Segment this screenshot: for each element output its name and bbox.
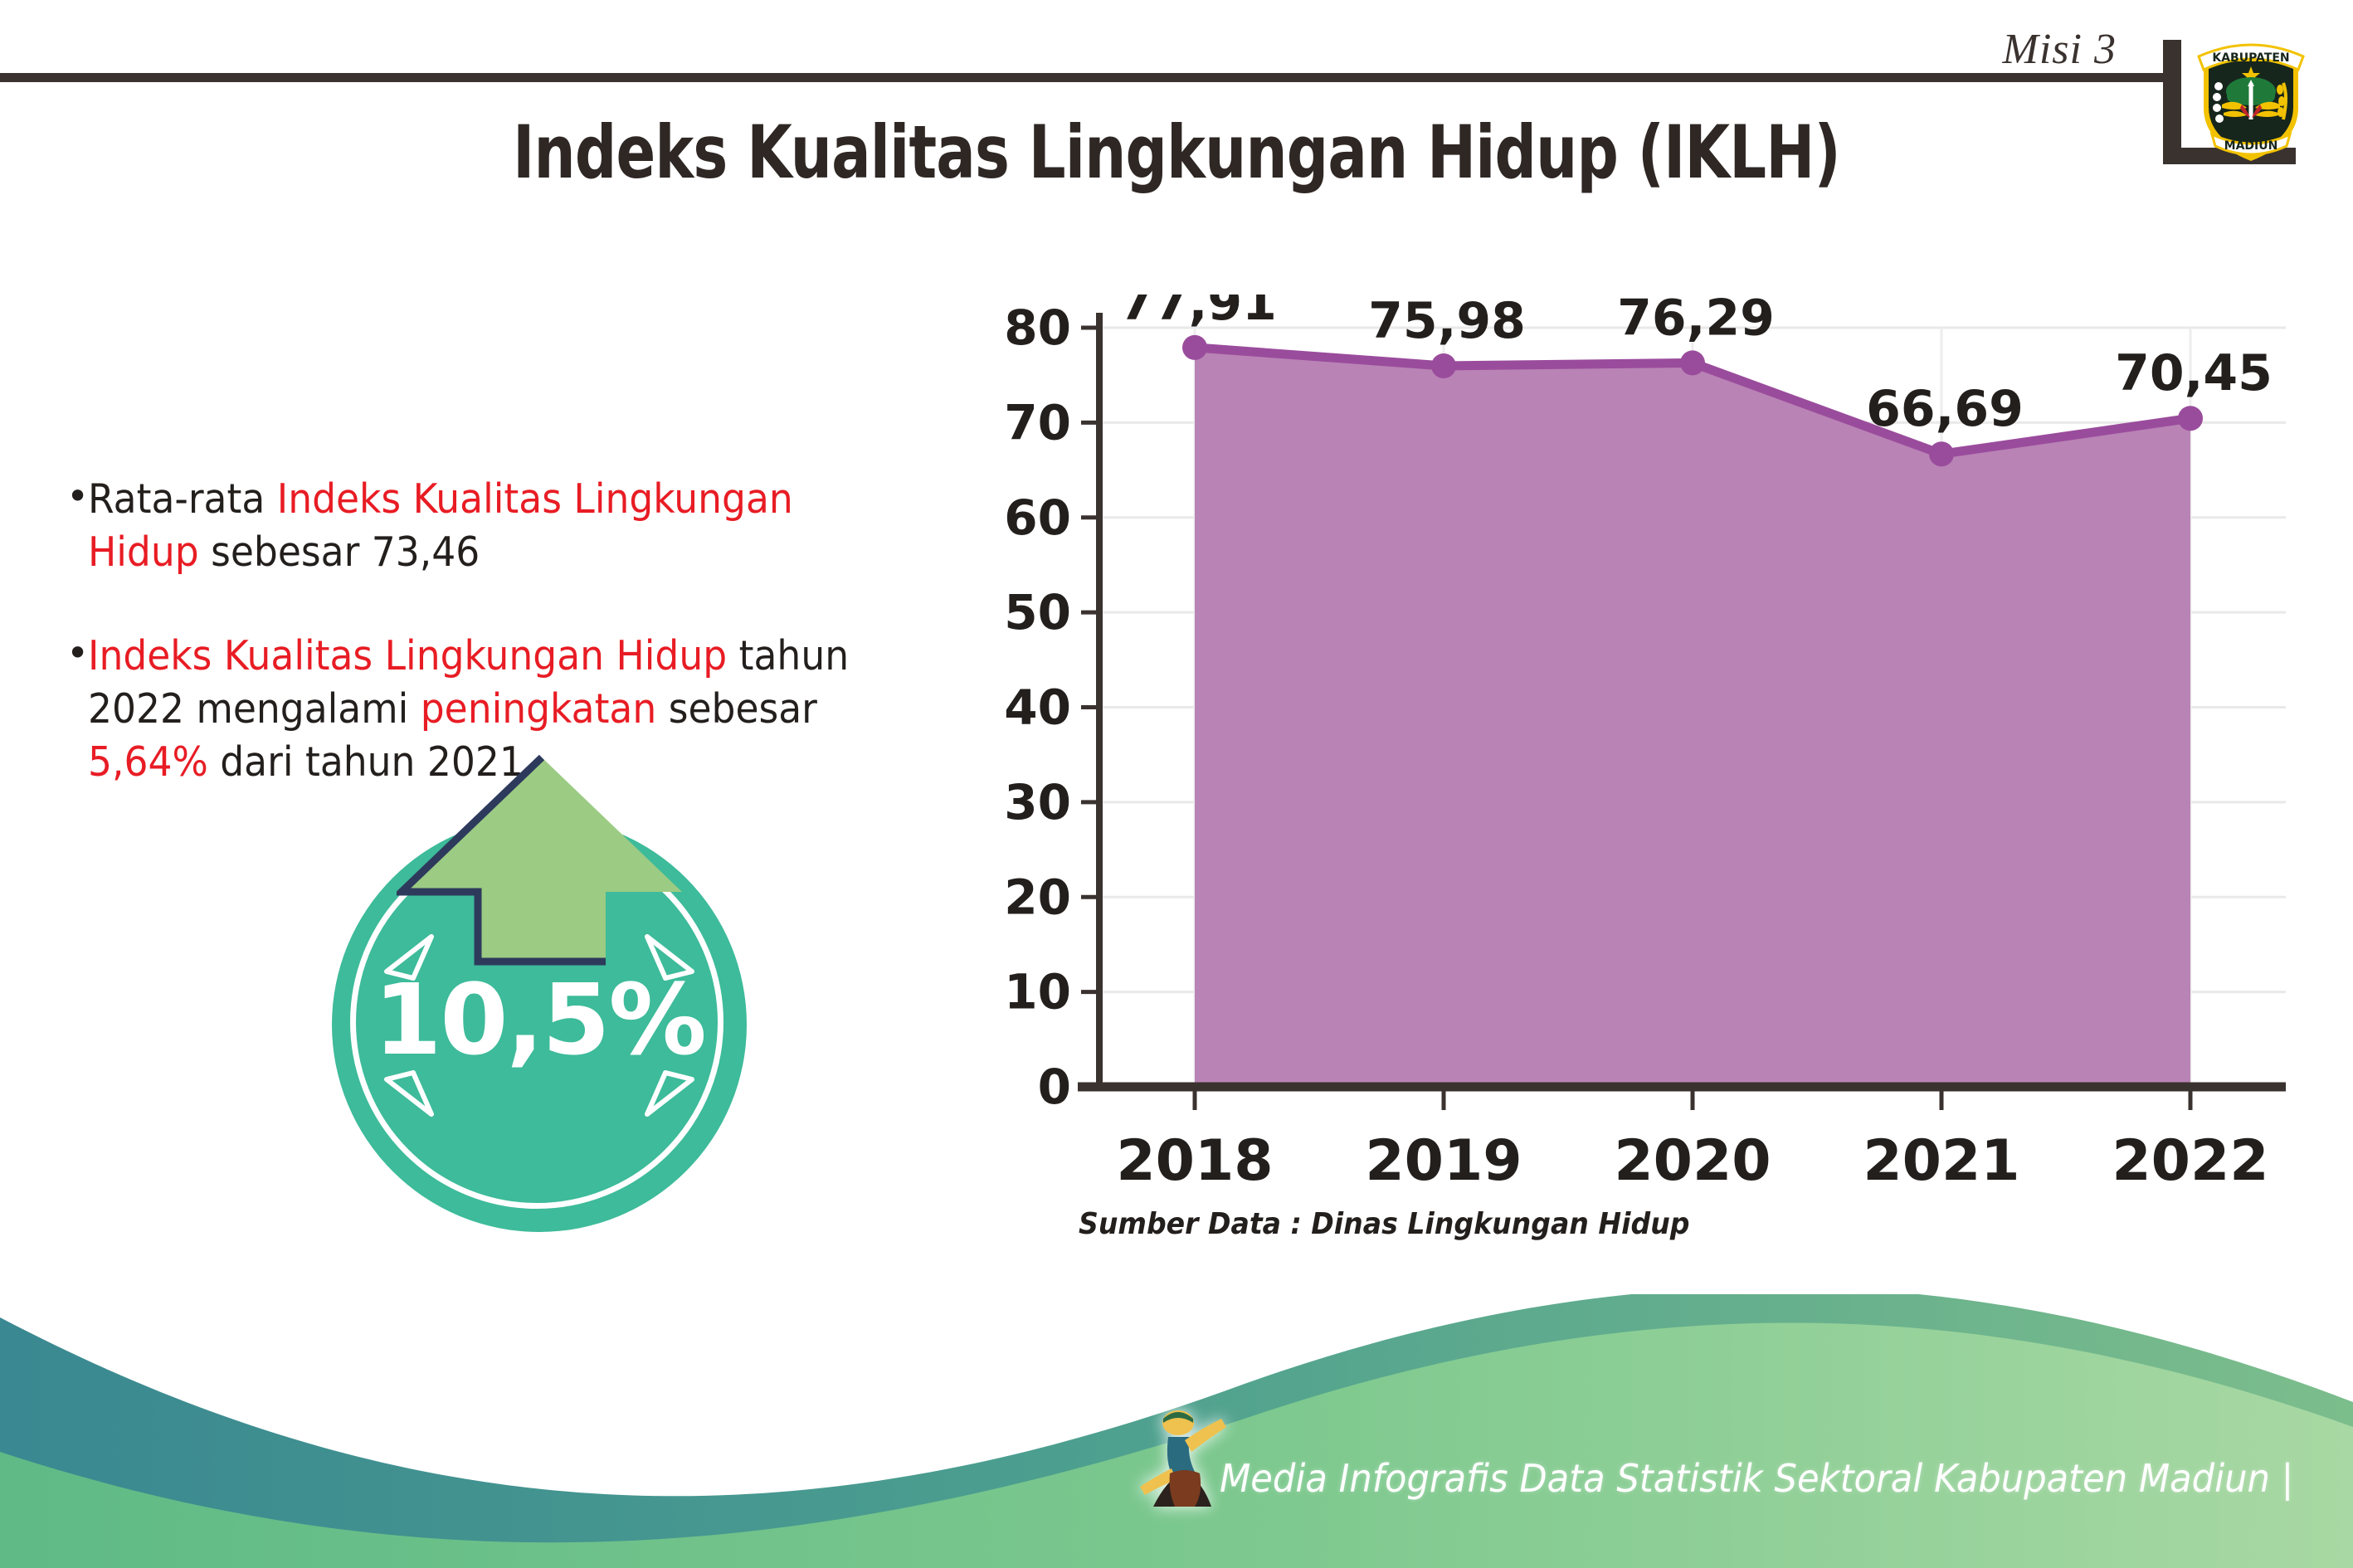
plain-phrase: sebesar 73,46 — [199, 528, 480, 576]
kabupaten-madiun-emblem-icon: KABUPATEN MADIUN — [2189, 32, 2313, 164]
data-point-label: 75,98 — [1368, 295, 1526, 350]
insight-bullet-1: • Rata-rata Indeks Kualitas Lingkungan H… — [66, 473, 946, 578]
y-axis-tick-label: 70 — [1004, 394, 1071, 450]
highlighted-phrase: Indeks Kualitas Lingkungan Hidup — [88, 632, 727, 679]
y-axis-tick-label: 60 — [1004, 489, 1071, 546]
y-axis-tick-label: 40 — [1004, 679, 1071, 736]
y-axis-tick-label: 0 — [1038, 1059, 1071, 1115]
data-point-label: 76,29 — [1617, 295, 1775, 347]
iklh-area-chart: 01020304050607080 20182019202020212022 7… — [979, 295, 2307, 1290]
badge-percent-label: 10,5% — [332, 962, 747, 1077]
chart-area-series — [1195, 348, 2190, 1087]
y-axis-tick-label: 80 — [1004, 299, 1071, 356]
data-point-label: 70,45 — [2115, 344, 2273, 402]
bullet-dot-icon: • — [66, 630, 88, 676]
page-title: Indeks Kualitas Lingkungan Hidup (IKLH) — [236, 110, 2118, 195]
misi-label: Misi 3 — [2003, 25, 2117, 74]
y-axis-tick-label: 20 — [1004, 869, 1071, 925]
y-axis-tick-label: 30 — [1004, 774, 1071, 830]
chart-canvas: 01020304050607080 20182019202020212022 7… — [979, 295, 2307, 1207]
x-axis-tick-label: 2021 — [1863, 1128, 2019, 1194]
data-point-marker — [1680, 350, 1705, 375]
svg-text:KABUPATEN: KABUPATEN — [2212, 51, 2289, 65]
highlighted-phrase: 5,64% — [88, 738, 208, 786]
area-fill — [1195, 348, 2190, 1087]
y-axis-tick-label: 10 — [1004, 964, 1071, 1020]
data-point-label: 77,91 — [1119, 295, 1277, 332]
x-axis-tick-label: 2018 — [1116, 1128, 1273, 1194]
highlighted-phrase: peningkatan — [421, 685, 657, 733]
header-bracket-vertical — [2163, 40, 2181, 164]
bullet-dot-icon: • — [66, 473, 88, 519]
data-point-marker — [1182, 335, 1207, 360]
plain-phrase: sebesar — [656, 685, 817, 733]
y-axis-tick-label: 50 — [1004, 584, 1071, 640]
data-point-marker — [1431, 353, 1456, 378]
x-axis-tick-label: 2022 — [2112, 1128, 2268, 1194]
chart-source-note: Sumber Data : Dinas Lingkungan Hidup — [1079, 1207, 1689, 1241]
plain-phrase: Rata-rata — [88, 475, 277, 523]
x-axis-tick-label: 2020 — [1614, 1128, 1771, 1194]
svg-text:MADIUN: MADIUN — [2224, 139, 2278, 153]
x-axis-tick-label: 2019 — [1365, 1128, 1522, 1194]
increase-badge: 10,5% — [332, 817, 747, 1232]
data-point-label: 66,69 — [1866, 380, 2024, 438]
header-rule — [0, 73, 2165, 82]
data-point-marker — [2178, 406, 2203, 431]
footer-caption: Media Infografis Data Statistik Sektoral… — [1220, 1456, 2293, 1501]
chart-y-axis-labels: 01020304050607080 — [1004, 299, 1071, 1115]
insight-bullet-1-text: Rata-rata Indeks Kualitas Lingkungan Hid… — [88, 473, 886, 578]
chart-x-axis-labels: 20182019202020212022 — [1116, 1128, 2268, 1194]
data-point-marker — [1929, 441, 1954, 466]
